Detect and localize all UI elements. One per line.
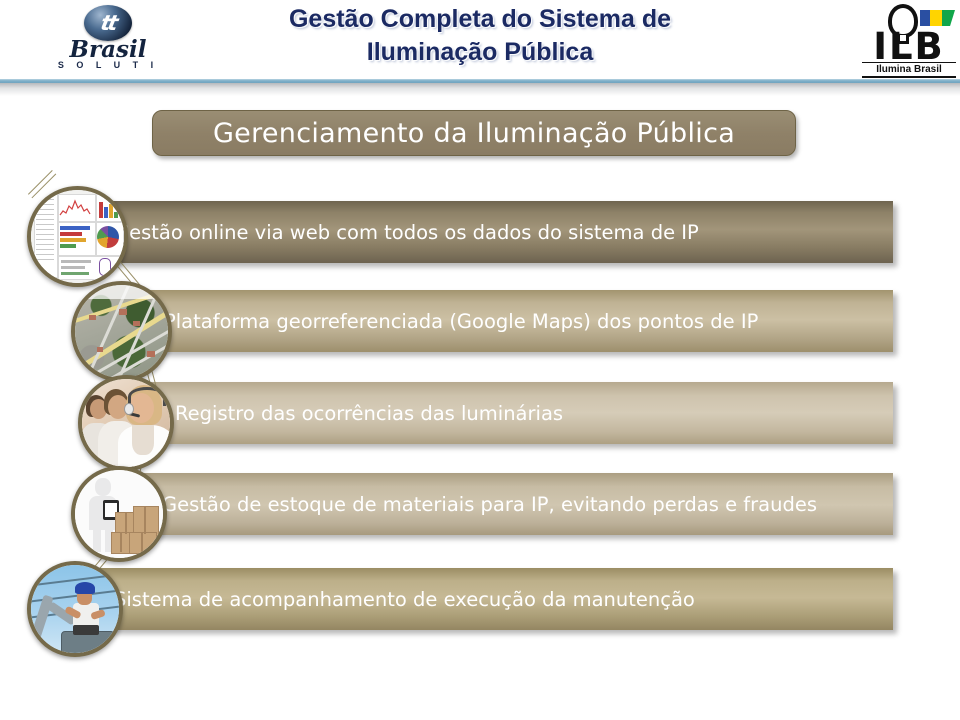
feature-bar-5[interactable]: Sistema de acompanhamento de execução da… (52, 568, 893, 630)
logo-brasil-soluti: tt Brasil S O L U T I (42, 4, 174, 78)
ilb-mark-text: ILB (862, 28, 956, 65)
brazil-flag-blue-icon (920, 10, 930, 26)
section-banner-label: Gerenciamento da Iluminação Pública (213, 118, 735, 149)
call-center-operators-icon (82, 379, 170, 467)
maintenance-worker-icon (31, 565, 119, 653)
ilb-sub-text: Ilumina Brasil (862, 62, 956, 78)
header-divider-shadow (0, 83, 960, 96)
feature-label-1: Gestão online via web com todos os dados… (114, 221, 699, 244)
satellite-map-icon (75, 285, 168, 378)
logo-ilumina-brasil: ILB Ilumina Brasil (862, 4, 956, 78)
page-title-line2: Iluminação Pública (190, 36, 770, 69)
section-banner: Gerenciamento da Iluminação Pública (152, 110, 796, 156)
page-header: tt Brasil S O L U T I Gestão Completa do… (0, 0, 960, 82)
feature-icon-1[interactable] (27, 186, 128, 287)
feature-bar-2[interactable]: Plataforma georreferenciada (Google Maps… (96, 290, 893, 352)
brasil-brand-text: Brasil (42, 36, 174, 63)
page-title: Gestão Completa do Sistema de Iluminação… (190, 3, 770, 69)
warehouse-stock-boxes-icon (75, 470, 163, 558)
brasil-sub-text: S O L U T I (42, 60, 174, 70)
feature-bar-3[interactable]: Registro das ocorrências das luminárias (103, 382, 893, 444)
feature-icon-5[interactable] (27, 561, 123, 657)
dashboard-charts-icon (31, 190, 124, 283)
feature-bar-1[interactable]: Gestão online via web com todos os dados… (52, 201, 893, 263)
feature-icon-3[interactable] (78, 375, 174, 471)
brazil-flag-green-icon (942, 10, 955, 26)
brasil-oval-mark: tt (98, 11, 117, 35)
feature-label-2: Plataforma georreferenciada (Google Maps… (164, 310, 758, 333)
page-title-line1: Gestão Completa do Sistema de (190, 3, 770, 36)
feature-label-3: Registro das ocorrências das luminárias (175, 402, 563, 425)
feature-icon-2[interactable] (71, 281, 172, 382)
feature-label-5: Sistema de acompanhamento de execução da… (114, 588, 695, 611)
feature-icon-4[interactable] (71, 466, 167, 562)
feature-bar-4[interactable]: Gestão de estoque de materiais para IP, … (96, 473, 893, 535)
feature-label-4: Gestão de estoque de materiais para IP, … (162, 493, 817, 516)
